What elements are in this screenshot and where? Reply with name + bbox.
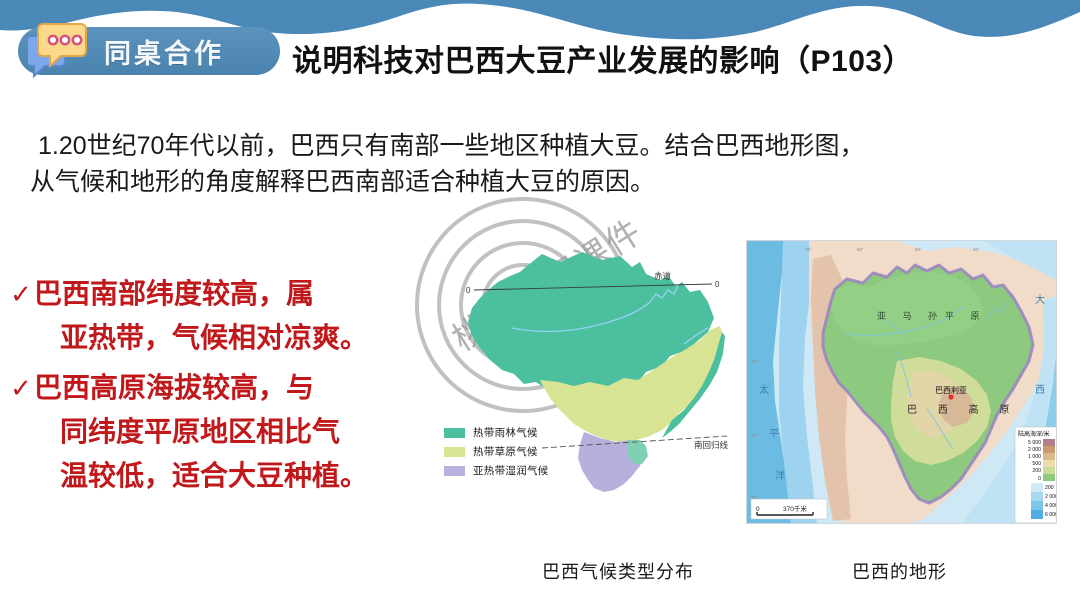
svg-text:0: 0 (715, 280, 720, 289)
slide-root: 同桌合作 说明科技对巴西大豆产业发展的影响（P103） 1.20世纪70年代以前… (0, 0, 1080, 608)
svg-text:洋: 洋 (775, 469, 785, 482)
answer-item-1: ✓ 巴西南部纬度较高，属 亚热带，气候相对凉爽。 (8, 272, 428, 360)
legend-swatch-rainforest (444, 428, 465, 438)
svg-text:0: 0 (466, 286, 471, 295)
svg-text:5 000: 5 000 (1028, 440, 1041, 446)
question-line-2: 从气候和地形的角度解释巴西南部适合种植大豆的原因。 (30, 164, 1055, 200)
svg-text:巴西利亚: 巴西利亚 (935, 385, 967, 395)
terrain-map-caption: 巴西的地形 (852, 558, 947, 584)
svg-text:50°: 50° (915, 247, 922, 252)
question-line-1: 1.20世纪70年代以前，巴西只有南部一些地区种植大豆。结合巴西地形图， (30, 128, 1055, 164)
check-icon: ✓ (8, 366, 34, 410)
answer-text-1: 巴西南部纬度较高，属 亚热带，气候相对凉爽。 (34, 272, 406, 360)
svg-text:6 000: 6 000 (1045, 512, 1057, 518)
svg-text:200: 200 (1032, 468, 1041, 474)
answer-text-2: 巴西高原海拔较高，与 同纬度平原地区相比气 温较低，适合大豆种植。 (34, 366, 406, 498)
svg-text:500: 500 (1032, 461, 1041, 467)
legend-label-subtropical: 亚热带湿润气候 (473, 463, 549, 478)
legend-row-savanna: 热带草原气候 (444, 443, 549, 460)
page-title: 说明科技对巴西大豆产业发展的影响（P103） (292, 36, 913, 80)
answer-list: ✓ 巴西南部纬度较高，属 亚热带，气候相对凉爽。 ✓ 巴西高原海拔较高，与 同纬… (8, 272, 428, 504)
svg-text:南回归线: 南回归线 (694, 440, 729, 450)
svg-text:200: 200 (1045, 485, 1054, 491)
legend-swatch-subtropical (444, 466, 465, 476)
svg-text:大: 大 (1035, 293, 1045, 306)
answer-2-line-3: 温较低，适合大豆种植。 (34, 454, 406, 498)
check-icon: ✓ (8, 272, 34, 316)
climate-legend: 热带雨林气候 热带草原气候 亚热带湿润气候 (444, 424, 549, 481)
question-text: 1.20世纪70年代以前，巴西只有南部一些地区种植大豆。结合巴西地形图， 从气候… (30, 128, 1055, 200)
svg-text:陆高海深/米: 陆高海深/米 (1018, 430, 1050, 438)
svg-text:4 000: 4 000 (1045, 503, 1057, 509)
scale-bar: 0 370千米 (751, 499, 827, 519)
svg-text:40°: 40° (973, 247, 980, 252)
legend-row-subtropical: 亚热带湿润气候 (444, 462, 549, 479)
answer-2-line-1: 巴西高原海拔较高，与 (34, 366, 406, 410)
svg-text:赤道: 赤道 (654, 271, 672, 281)
svg-text:1 000: 1 000 (1028, 454, 1041, 460)
legend-label-rainforest: 热带雨林气候 (473, 425, 538, 440)
svg-text:0: 0 (1038, 476, 1041, 482)
elevation-legend: 陆高海深/米 5 000 2 000 1 000 500 200 0 (1015, 427, 1057, 523)
svg-text:0: 0 (756, 506, 760, 513)
legend-label-savanna: 热带草原气候 (473, 444, 538, 459)
terrain-map-image: 亚 马 孙 平 原 巴 西 高 原 巴西利亚 大 西 洋 太 平 洋 70°60… (746, 240, 1057, 524)
answer-item-2: ✓ 巴西高原海拔较高，与 同纬度平原地区相比气 温较低，适合大豆种植。 (8, 366, 428, 498)
svg-text:70°: 70° (805, 247, 812, 252)
svg-text:2 000: 2 000 (1028, 447, 1041, 453)
chat-bubbles-icon (28, 22, 90, 78)
svg-text:平: 平 (769, 429, 779, 440)
svg-text:太: 太 (759, 383, 769, 396)
answer-2-line-2: 同纬度平原地区相比气 (34, 410, 406, 454)
svg-text:巴 西 高 原: 巴 西 高 原 (907, 403, 1018, 416)
svg-text:西: 西 (1035, 385, 1045, 396)
svg-text:亚 马 孙: 亚 马 孙 (877, 310, 944, 321)
legend-swatch-savanna (444, 447, 465, 457)
svg-text:平 原: 平 原 (945, 311, 987, 321)
svg-text:60°: 60° (857, 247, 864, 252)
svg-text:10°: 10° (751, 359, 758, 364)
svg-text:2 000: 2 000 (1045, 494, 1057, 500)
badge-label: 同桌合作 (104, 32, 224, 71)
svg-text:20°: 20° (751, 433, 758, 438)
svg-text:370千米: 370千米 (783, 504, 807, 513)
answer-1-line-1: 巴西南部纬度较高，属 (34, 272, 406, 316)
legend-row-rainforest: 热带雨林气候 (444, 424, 549, 441)
climate-map-caption: 巴西气候类型分布 (542, 558, 694, 584)
answer-1-line-2: 亚热带，气候相对凉爽。 (34, 316, 406, 360)
